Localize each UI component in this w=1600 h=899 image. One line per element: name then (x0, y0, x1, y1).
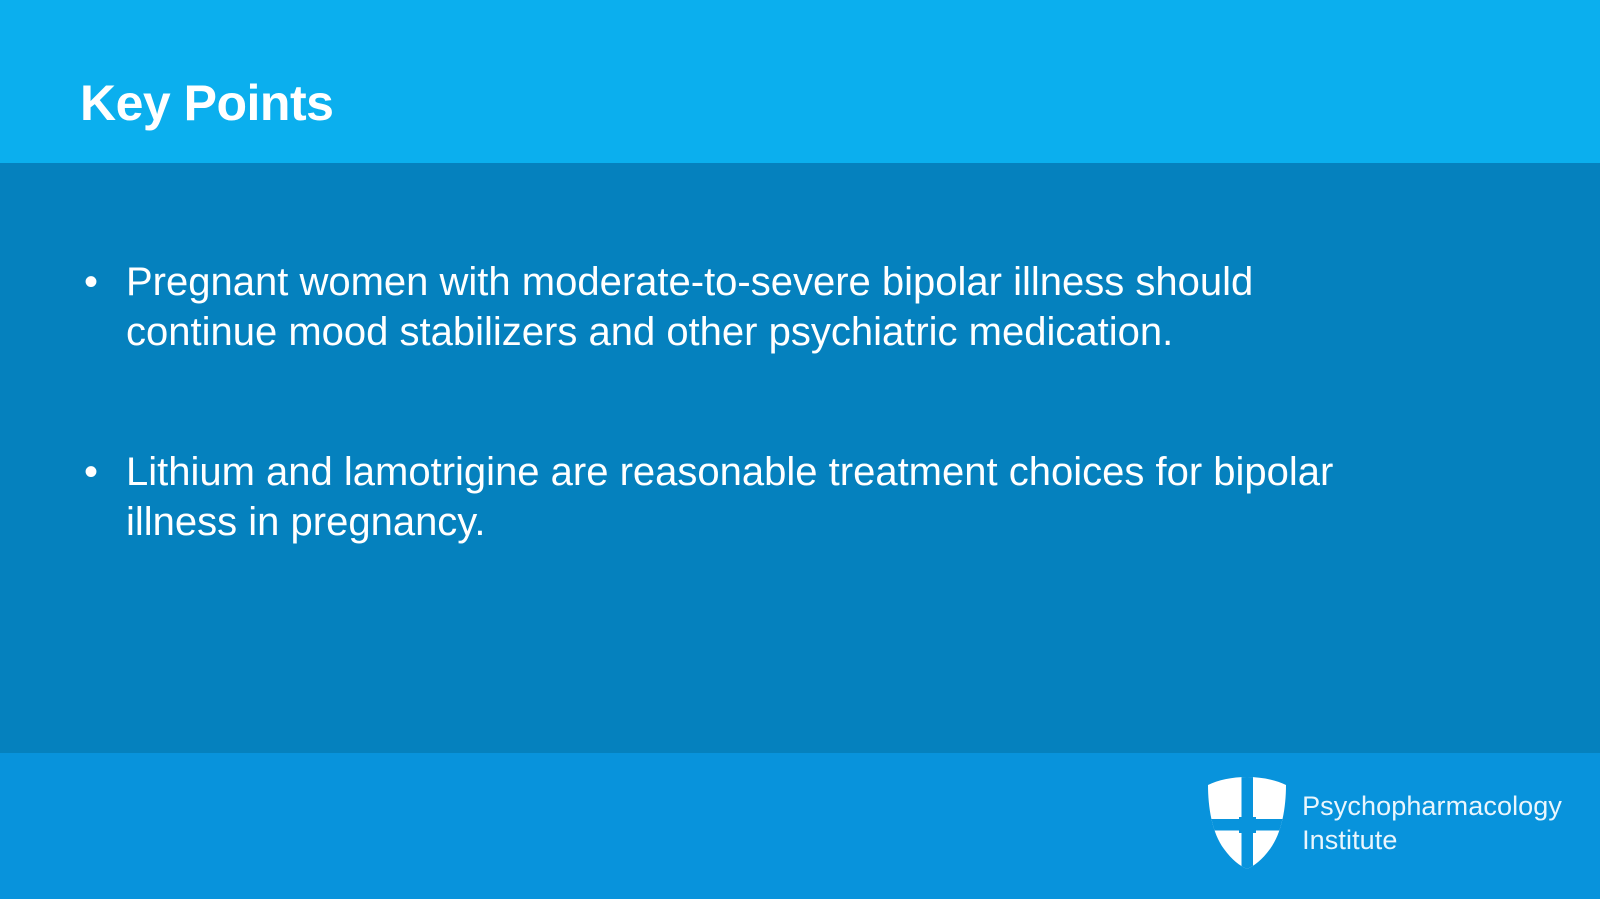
slide-body-band: • Pregnant women with moderate-to-severe… (0, 163, 1600, 753)
list-item-text: Lithium and lamotrigine are reasonable t… (126, 447, 1366, 547)
list-item-text: Pregnant women with moderate-to-severe b… (126, 257, 1366, 357)
slide-footer-band: Psychopharmacology Institute (0, 753, 1600, 899)
bullet-marker-icon: • (80, 447, 126, 497)
page-title: Key Points (80, 72, 333, 134)
brand-name-line-1: Psychopharmacology (1302, 789, 1562, 823)
presentation-slide: Key Points • Pregnant women with moderat… (0, 0, 1600, 899)
shield-quadrant-icon (1208, 777, 1286, 869)
list-item: • Pregnant women with moderate-to-severe… (80, 257, 1410, 357)
brand-wordmark: Psychopharmacology Institute (1302, 789, 1562, 857)
list-item: • Lithium and lamotrigine are reasonable… (80, 447, 1410, 547)
brand-name-line-2: Institute (1302, 823, 1562, 857)
brand-logo: Psychopharmacology Institute (1208, 777, 1562, 869)
slide-header-band: Key Points (0, 0, 1600, 163)
bullet-marker-icon: • (80, 257, 126, 307)
